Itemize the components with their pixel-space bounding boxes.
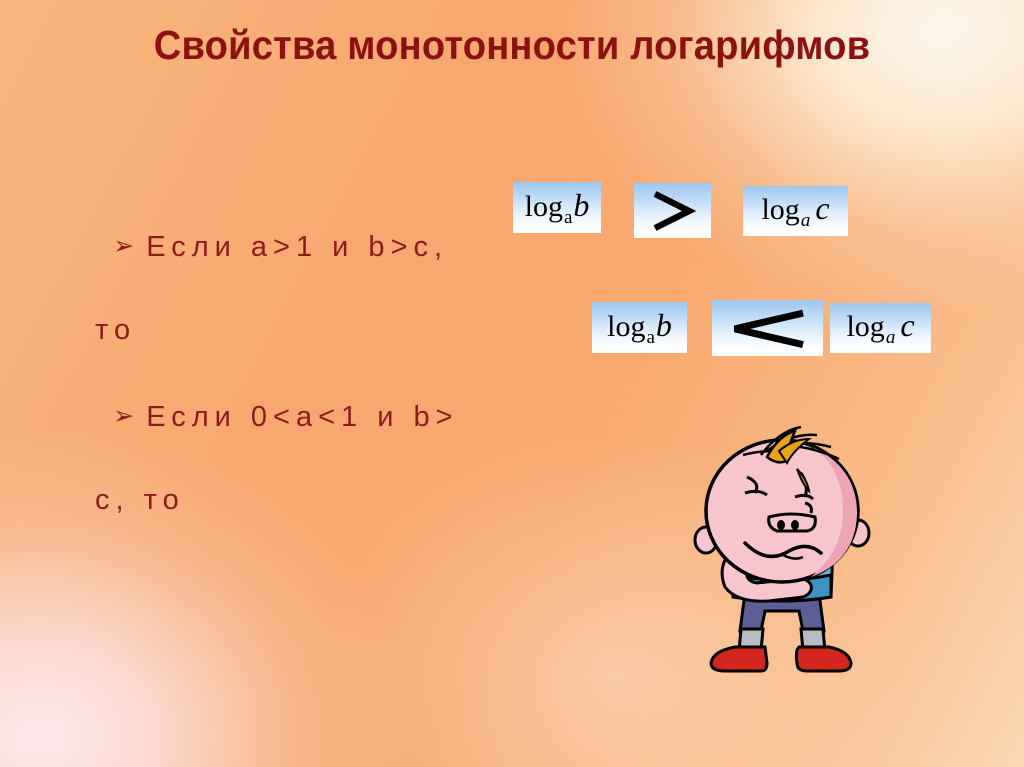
log-base: a [645,327,655,348]
formula-box-log-a-b-row2: logab [592,302,687,353]
formula-box-operator-greater-than [634,183,711,238]
log-argument: c [815,190,829,226]
log-word: log [607,310,645,343]
log-base: a [563,207,573,228]
log-argument: b [573,187,589,223]
log-word: log [761,193,799,226]
formula-expression: logab [607,309,672,347]
bullet-item-2: ➢Если 0<a<1 и b> c, то [57,356,477,603]
formula-box-operator-less-than [712,300,823,356]
formula-expression: loga c [846,309,914,347]
log-argument: c [900,307,914,343]
bullet-1-line-2: то [95,310,527,351]
formula-box-log-a-c-row1: loga c [743,186,848,236]
bullet-arrow-icon: ➢ [113,226,134,267]
log-base: a [885,327,897,348]
log-word: log [525,190,563,223]
log-base: a [800,210,812,231]
thinking-boy-icon [683,425,881,680]
bullet-2-line-1: Если 0<a<1 и b> [146,401,458,433]
bullet-1-line-1: Если а>1 и b>c, [146,231,448,263]
bullet-arrow-icon: ➢ [113,396,134,437]
log-word: log [846,310,884,343]
thinking-boy-illustration [683,425,881,680]
page-title: Свойства монотонности логарифмов [36,22,988,69]
greater-than-icon [646,189,700,233]
formula-expression: loga c [761,192,829,230]
formula-box-log-a-c-row2: loga c [830,303,931,353]
less-than-icon [722,307,814,349]
formula-box-log-a-b-row1: logab [513,182,601,233]
formula-expression: logab [525,189,590,227]
slide-canvas: Свойства монотонности логарифмов ➢Если а… [0,0,1024,767]
bullet-2-line-2: c, то [95,480,477,521]
log-argument: b [656,307,672,343]
